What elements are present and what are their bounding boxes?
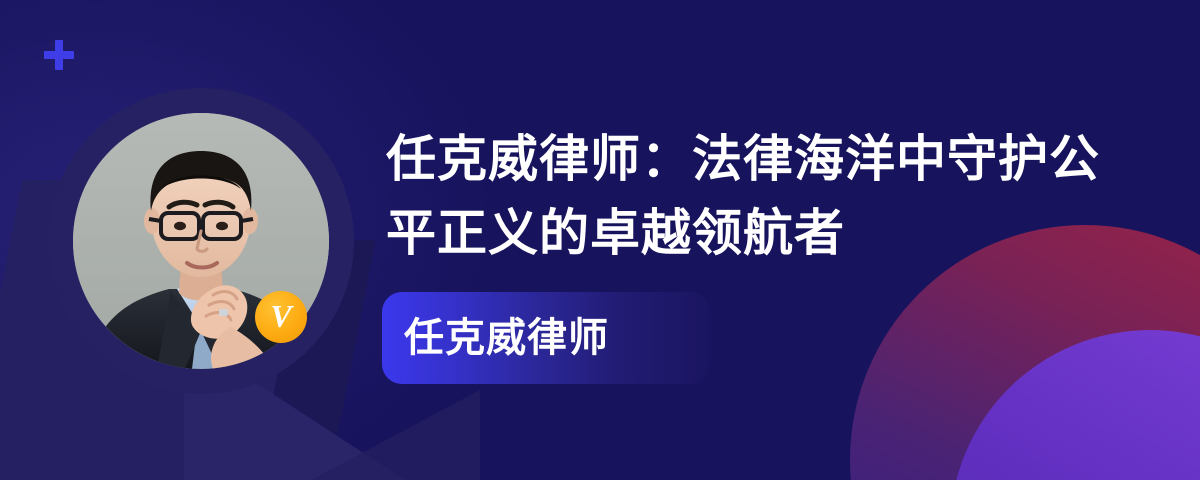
- avatar[interactable]: V: [48, 88, 354, 394]
- author-name-label: 任克威律师: [382, 318, 609, 358]
- verified-badge-letter: V: [270, 300, 291, 332]
- page-title: 任克威律师：法律海洋中守护公平正义的卓越领航者: [386, 122, 1106, 270]
- headline-block: 任克威律师：法律海洋中守护公平正义的卓越领航者: [386, 122, 1176, 270]
- verified-badge-icon: V: [255, 291, 307, 343]
- plus-icon-bar-vertical: [55, 40, 63, 70]
- author-name-badge[interactable]: 任克威律师: [382, 292, 710, 384]
- banner-canvas: V 任克威律师：法律海洋中守护公平正义的卓越领航者 任克威律师: [0, 0, 1200, 480]
- plus-icon: [44, 40, 74, 70]
